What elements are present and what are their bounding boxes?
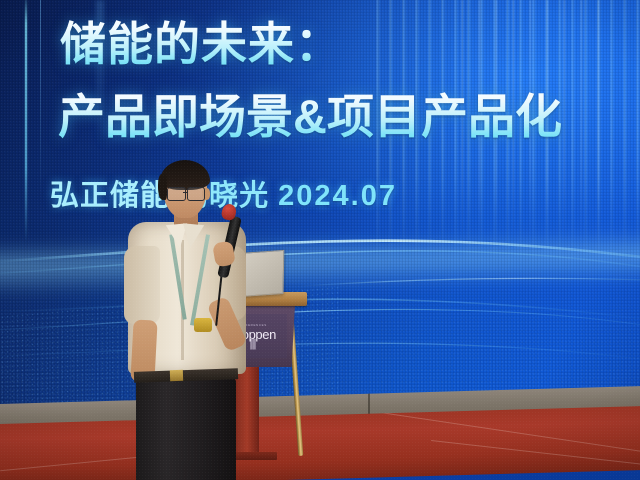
- speaker-badge: [194, 318, 212, 332]
- speaker-belt-buckle: [170, 370, 183, 381]
- speaker-hair: [160, 160, 210, 190]
- speaker-sleeve-left: [124, 246, 160, 324]
- floor-seam: [431, 440, 640, 467]
- glasses-lens-right: [187, 187, 205, 201]
- subtitle-date: 2024.07: [278, 180, 397, 212]
- conference-photo: 储能的未来： 产品即场景&项目产品化 弘正储能 杨晓光 2024.07 CONF…: [0, 0, 640, 480]
- slide-title-line-2: 产品即场景&项目产品化: [58, 78, 562, 147]
- glasses-bridge: [183, 192, 188, 193]
- slide-title-line-1: 储能的未来：: [60, 8, 342, 74]
- slide-text-block: 储能的未来： 产品即场景&项目产品化 弘正储能 杨晓光 2024.07: [0, 0, 640, 240]
- speaker-trousers: [136, 378, 236, 480]
- speaker-hair-side: [158, 174, 167, 200]
- glasses-lens-left: [167, 187, 186, 201]
- speaker-figure: [118, 160, 268, 480]
